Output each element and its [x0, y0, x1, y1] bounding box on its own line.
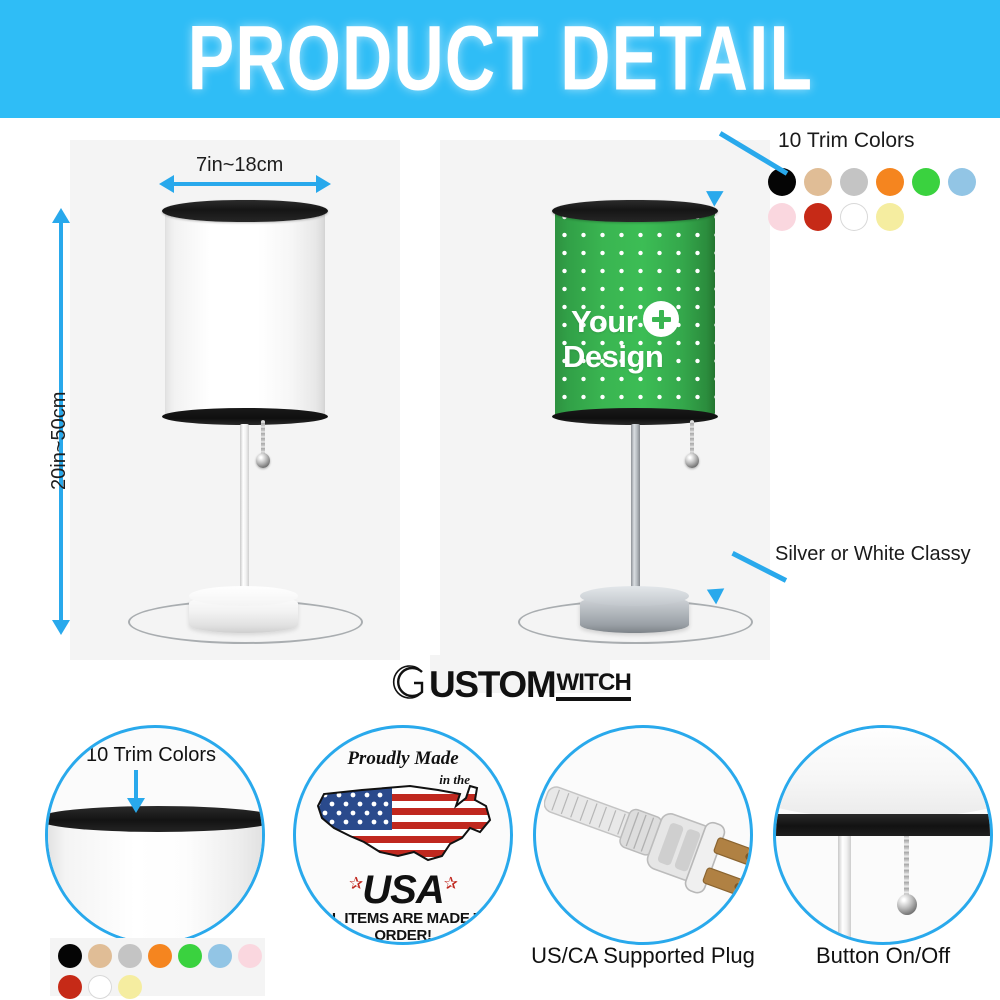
shade-trim-top [162, 200, 328, 222]
trim-color-swatches[interactable] [768, 168, 1000, 238]
usa-badge-line1: Proudly Made [296, 748, 510, 770]
usa-badge-word: ✰USA✰ [296, 868, 510, 913]
shade-closeup [773, 725, 993, 818]
trim-swatch-pink[interactable] [768, 203, 796, 231]
trim-swatch-orange[interactable] [148, 944, 172, 968]
height-arrow-head-bottom [52, 620, 70, 635]
lamp-pole-closeup [838, 836, 851, 945]
lamp-shade-green: Your Design [555, 208, 715, 418]
pull-chain-closeup[interactable] [904, 836, 909, 898]
trim-swatch-white[interactable] [88, 975, 112, 999]
lamp-shade-white [165, 208, 325, 418]
logo-sub-text: WITCH [556, 671, 631, 701]
trim-swatch-light-blue[interactable] [948, 168, 976, 196]
usa-badge-footer: ALL ITEMS ARE MADE TO ORDER! [296, 910, 510, 944]
trim-swatch-gray[interactable] [840, 168, 868, 196]
feature-button-caption: Button On/Off [763, 943, 1000, 969]
star-left-icon: ✰ [349, 874, 362, 893]
height-arrow-head-top [52, 208, 70, 223]
width-arrow-line [172, 182, 318, 186]
trim-color-swatches-bottom[interactable] [58, 944, 268, 1000]
logo-main-text: USTOM [429, 667, 555, 702]
shade-trim-top [552, 200, 718, 222]
shade-trim-closeup [45, 806, 265, 832]
trim-swatch-pink[interactable] [238, 944, 262, 968]
width-arrow-head-right [316, 175, 331, 193]
pull-chain-ball-closeup[interactable] [897, 894, 917, 915]
lamp-pole [631, 424, 640, 604]
trim-swatch-tan[interactable] [804, 168, 832, 196]
usa-badge: Proudly Made in the [296, 728, 510, 942]
feature-circle-button [773, 725, 993, 945]
pull-chain-ball[interactable] [256, 453, 270, 468]
usa-map-flag-icon [310, 780, 505, 877]
trim-swatch-red[interactable] [804, 203, 832, 231]
trim-swatch-white[interactable] [840, 203, 868, 231]
lamp-base-top [189, 586, 298, 606]
header-banner: PRODUCT DETAIL [0, 0, 1000, 118]
power-plug-icon [544, 774, 749, 919]
logo-c-mark-icon [392, 662, 432, 702]
trim-swatch-green[interactable] [178, 944, 202, 968]
feature-trim-arrow-head [127, 798, 145, 813]
trim-swatch-yellow[interactable] [876, 203, 904, 231]
plus-icon [643, 301, 679, 337]
trim-colors-title: 10 Trim Colors [778, 129, 915, 153]
shade-trim-bottom [162, 408, 328, 425]
design-text-line2: Design [563, 341, 663, 373]
page-title: PRODUCT DETAIL [187, 13, 812, 105]
brand-logo: USTOM WITCH [392, 662, 631, 702]
shade-trim-closeup [773, 814, 993, 836]
feature-plug-caption: US/CA Supported Plug [503, 943, 783, 969]
feature-circle-plug [533, 725, 753, 945]
lamp-base-white [189, 595, 298, 633]
trim-swatch-yellow[interactable] [118, 975, 142, 999]
lamp-pole [240, 424, 249, 604]
width-dimension-label: 7in~18cm [196, 154, 283, 177]
feature-circle-usa: Proudly Made in the [293, 725, 513, 945]
feature-circle-trim-colors: 10 Trim Colors [45, 725, 265, 945]
trim-swatch-gray[interactable] [118, 944, 142, 968]
shade-surface [165, 208, 325, 418]
feature-trim-colors-label: 10 Trim Colors [86, 744, 216, 767]
shade-closeup [45, 820, 265, 945]
pull-chain-ball[interactable] [685, 453, 699, 468]
width-arrow-head-left [159, 175, 174, 193]
trim-swatch-black[interactable] [58, 944, 82, 968]
trim-swatch-red[interactable] [58, 975, 82, 999]
star-right-icon: ✰ [444, 874, 457, 893]
base-annotation-label: Silver or White Classy [775, 543, 971, 566]
height-dimension-label: 20in~50cm [48, 392, 71, 490]
trim-swatch-green[interactable] [912, 168, 940, 196]
design-text-line1: Your [571, 306, 637, 338]
trim-swatch-light-blue[interactable] [208, 944, 232, 968]
trim-swatch-tan[interactable] [88, 944, 112, 968]
lamp-base-top [580, 586, 689, 606]
product-detail-page: PRODUCT DETAIL 10 Trim Colors 7in~18cm 2… [0, 0, 1000, 1000]
usa-word-text: USA [362, 868, 443, 912]
trim-swatch-orange[interactable] [876, 168, 904, 196]
lamp-base-silver [580, 595, 689, 633]
